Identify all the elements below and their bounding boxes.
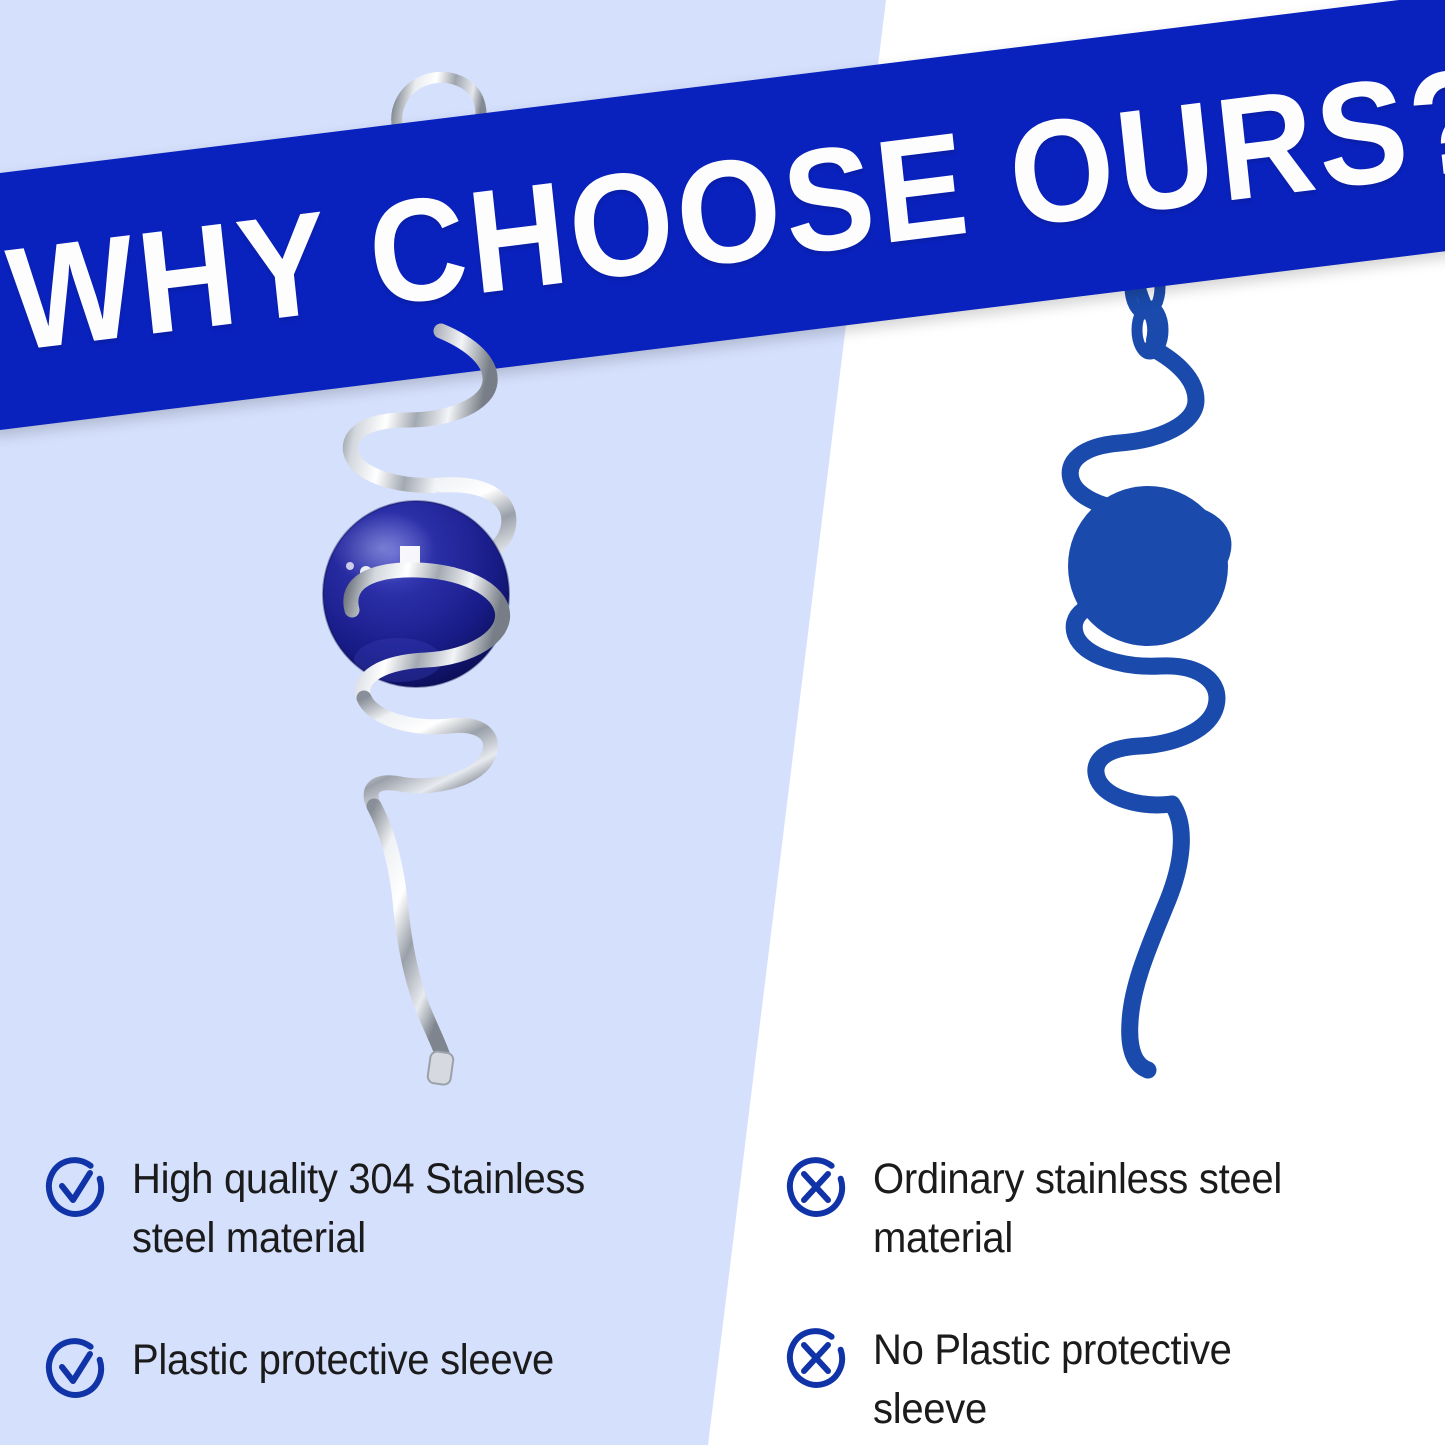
pros-column: High quality 304 Stainless steel materia… — [44, 1128, 744, 1399]
check-circle-icon — [44, 1156, 106, 1218]
list-item-label: Plastic protective sleeve — [132, 1331, 554, 1390]
list-item: No Plastic protective sleeve — [785, 1321, 1445, 1440]
list-item-label: High quality 304 Stainless steel materia… — [132, 1150, 585, 1269]
cons-column: Ordinary stainless steel material No Pla… — [785, 1128, 1445, 1439]
cross-circle-icon — [785, 1156, 847, 1218]
list-item-label: Ordinary stainless steel material — [873, 1150, 1282, 1269]
list-item: Plastic protective sleeve — [44, 1331, 744, 1399]
list-item: High quality 304 Stainless steel materia… — [44, 1150, 744, 1269]
feature-comparison: High quality 304 Stainless steel materia… — [0, 1128, 1445, 1445]
list-item-label: No Plastic protective sleeve — [873, 1321, 1232, 1440]
check-circle-icon — [44, 1337, 106, 1399]
list-item: Ordinary stainless steel material — [785, 1150, 1445, 1269]
comparison-infographic: WHY CHOOSE OURS? — [0, 0, 1445, 1445]
cross-circle-icon — [785, 1327, 847, 1389]
